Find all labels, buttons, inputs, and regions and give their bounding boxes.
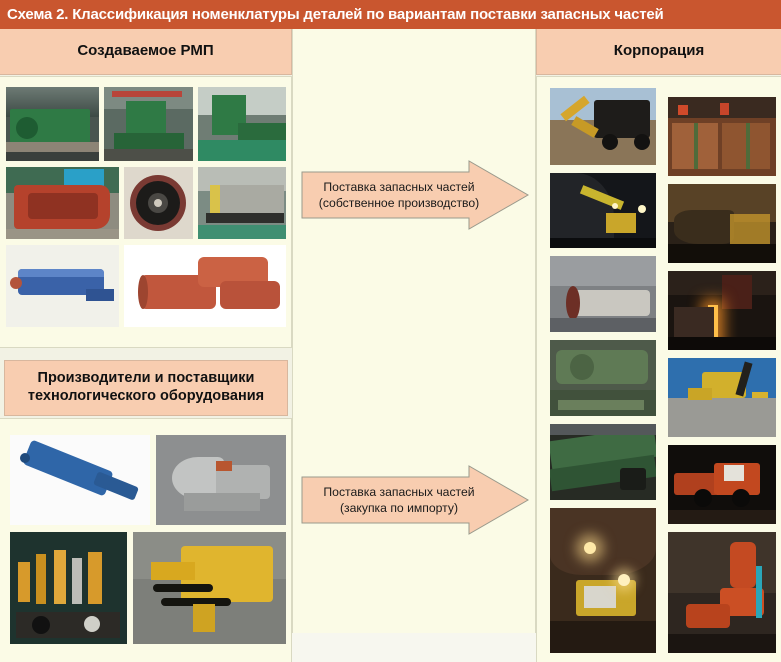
- diagram-page: Схема 2. Классификация номенклатуры дета…: [0, 0, 781, 633]
- photo-mill-wheel-dark: [124, 167, 193, 239]
- photo-spare-parts-assortment: [10, 532, 127, 644]
- header-equipment-suppliers-line2: технологического оборудования: [28, 388, 264, 406]
- photo-conveyor-belt-green: [550, 424, 656, 500]
- panel-supplier-products: [0, 418, 292, 662]
- middle-column: Поставка запасных частей (собственное пр…: [292, 29, 536, 633]
- photo-rail-car-gray: [198, 167, 286, 239]
- photo-molten-metal-pour: [668, 271, 776, 350]
- photo-lathe-line-green: [198, 87, 286, 161]
- photo-excavator-loading-haul-truck: [550, 88, 656, 165]
- photo-mining-shovel-yellow: [668, 358, 776, 437]
- arrow-supply-import: Поставка запасных частей (закупка по имп…: [301, 465, 529, 535]
- photo-hydraulic-manifold-yellow: [133, 532, 286, 644]
- page-title: Схема 2. Классификация номенклатуры дета…: [0, 0, 781, 29]
- photo-pipeline-flange-works: [550, 256, 656, 332]
- photo-centrifugal-pump-gray: [156, 435, 286, 525]
- photo-underground-lhd-orange: [668, 445, 776, 524]
- photo-roof-bolter-orange: [668, 532, 776, 653]
- header-equipment-suppliers: Производители и поставщики технологическ…: [4, 360, 288, 416]
- header-corporation: Корпорация: [536, 29, 781, 75]
- photo-copper-cathode-stacks: [668, 97, 776, 176]
- header-equipment-suppliers-line1: Производители и поставщики: [28, 370, 264, 388]
- photo-underground-drill-rig: [550, 173, 656, 248]
- panel-corporation-operations: [536, 76, 781, 662]
- photo-press-machine-green: [104, 87, 193, 161]
- photo-hydraulic-cylinder-blue: [10, 435, 150, 525]
- photo-underground-ore-face: [668, 184, 776, 263]
- right-column: Корпорация: [536, 29, 781, 633]
- photo-conveyor-rollers-red: [124, 245, 286, 327]
- photo-rolling-mill-green-machine: [6, 87, 99, 161]
- header-created-rmp: Создаваемое РМП: [0, 29, 292, 75]
- photo-underground-loader-yellow: [550, 508, 656, 653]
- photo-ball-mill-green: [550, 340, 656, 416]
- photo-excavator-bucket-red: [6, 167, 119, 239]
- panel-rmp-products: [0, 76, 292, 348]
- left-column: Создаваемое РМП: [0, 29, 292, 633]
- arrow-supply-own-production: Поставка запасных частей (собственное пр…: [301, 160, 529, 230]
- photo-multistage-pump-blue: [6, 245, 119, 327]
